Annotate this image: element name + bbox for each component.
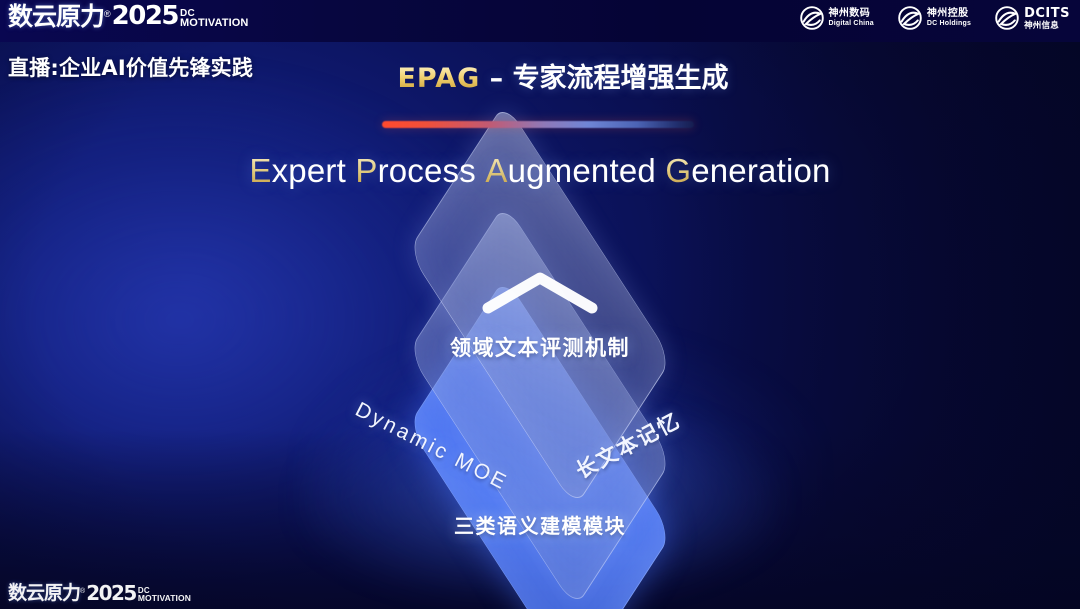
- watermark-dc-motivation: DC MOTIVATION: [138, 587, 191, 603]
- watermark-registered-mark: ®: [80, 588, 85, 595]
- watermark-name-cn: 数云原力: [8, 584, 80, 603]
- watermark-motivation-word: MOTIVATION: [138, 594, 191, 603]
- slide-canvas: 数云原力 ® 2025 DC MOTIVATION 直播:企业AI价值先锋实践 …: [0, 0, 1080, 609]
- watermark-logo: 数云原力 ® 2025 DC MOTIVATION: [8, 3, 1070, 603]
- watermark-year: 2025: [86, 583, 136, 603]
